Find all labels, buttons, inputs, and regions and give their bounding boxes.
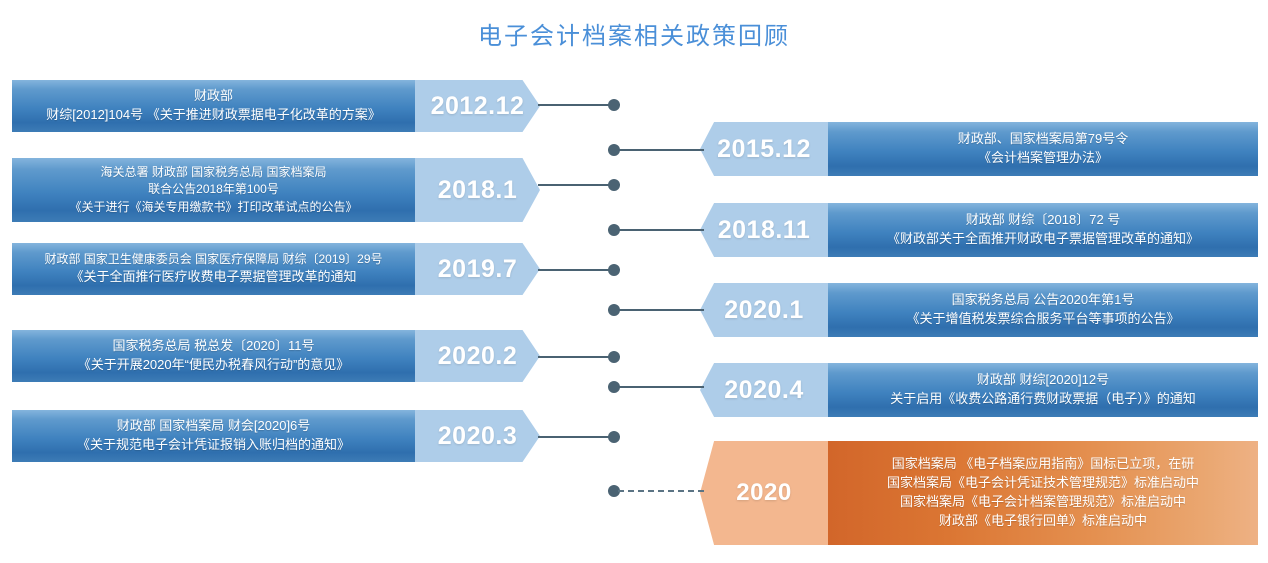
- date-badge-right-3[interactable]: 2020.1: [700, 283, 828, 337]
- policy-line: 海关总署 财政部 国家税务总局 国家档案局: [100, 164, 326, 181]
- timeline-item-right-5[interactable]: 2020 国家档案局 《电子档案应用指南》国标已立项，在研 国家档案局《电子会计…: [700, 441, 1258, 545]
- connector-line-right-5-dashed: [618, 490, 704, 492]
- policy-line: 财政部、国家档案局第79号令: [958, 130, 1128, 149]
- timeline-item-right-3[interactable]: 2020.1 国家税务总局 公告2020年第1号 《关于增值税发票综合服务平台等…: [700, 283, 1258, 337]
- connector-dot-left-3: [608, 264, 620, 276]
- policy-line: 关于启用《收费公路通行费财政票据（电子）》的通知: [890, 390, 1196, 409]
- policy-text-left-3: 财政部 国家卫生健康委员会 国家医疗保障局 财综〔2019〕29号 《关于全面推…: [12, 243, 415, 295]
- policy-text-right-1: 财政部、国家档案局第79号令 《会计档案管理办法》: [828, 122, 1258, 176]
- policy-line: 财政部: [194, 87, 233, 106]
- page-title: 电子会计档案相关政策回顾: [0, 16, 1268, 51]
- policy-line: 国家档案局《电子会计档案管理规范》标准启动中: [900, 493, 1186, 512]
- policy-line: 《关于开展2020年“便民办税春风行动”的意见》: [78, 356, 350, 375]
- date-badge-right-2[interactable]: 2018.11: [700, 203, 828, 257]
- timeline-item-left-5[interactable]: 财政部 国家档案局 财会[2020]6号 《关于规范电子会计凭证报销入账归档的通…: [12, 410, 540, 462]
- policy-line: 国家档案局 《电子档案应用指南》国标已立项，在研: [892, 455, 1195, 474]
- policy-line: 财综[2012]104号 《关于推进财政票据电子化改革的方案》: [46, 106, 380, 125]
- connector-line-left-5: [538, 436, 616, 438]
- policy-text-right-5: 国家档案局 《电子档案应用指南》国标已立项，在研 国家档案局《电子会计凭证技术管…: [828, 441, 1258, 545]
- connector-line-left-3: [538, 269, 616, 271]
- policy-line: 财政部《电子银行回单》标准启动中: [939, 512, 1147, 531]
- policy-line: 财政部 国家档案局 财会[2020]6号: [117, 417, 311, 436]
- policy-line: 《会计档案管理办法》: [978, 149, 1108, 168]
- policy-line: 财政部 财综[2020]12号: [977, 371, 1109, 390]
- date-badge-right-1[interactable]: 2015.12: [700, 122, 828, 176]
- connector-line-left-1: [538, 104, 616, 106]
- policy-text-left-5: 财政部 国家档案局 财会[2020]6号 《关于规范电子会计凭证报销入账归档的通…: [12, 410, 415, 462]
- policy-text-right-4: 财政部 财综[2020]12号 关于启用《收费公路通行费财政票据（电子）》的通知: [828, 363, 1258, 417]
- timeline-item-right-1[interactable]: 2015.12 财政部、国家档案局第79号令 《会计档案管理办法》: [700, 122, 1258, 176]
- timeline-item-left-4[interactable]: 国家税务总局 税总发〔2020〕11号 《关于开展2020年“便民办税春风行动”…: [12, 330, 540, 382]
- connector-dot-left-5: [608, 431, 620, 443]
- timeline-item-left-2[interactable]: 海关总署 财政部 国家税务总局 国家档案局 联合公告2018年第100号 《关于…: [12, 158, 540, 222]
- date-badge-left-4[interactable]: 2020.2: [415, 330, 540, 382]
- timeline-item-right-2[interactable]: 2018.11 财政部 财综〔2018〕72 号 《财政部关于全面推开财政电子票…: [700, 203, 1258, 257]
- policy-text-right-2: 财政部 财综〔2018〕72 号 《财政部关于全面推开财政电子票据管理改革的通知…: [828, 203, 1258, 257]
- connector-dot-left-2: [608, 179, 620, 191]
- connector-line-left-4: [538, 356, 616, 358]
- date-badge-left-5[interactable]: 2020.3: [415, 410, 540, 462]
- policy-text-left-1: 财政部 财综[2012]104号 《关于推进财政票据电子化改革的方案》: [12, 80, 415, 132]
- policy-line: 国家税务总局 公告2020年第1号: [952, 291, 1135, 310]
- connector-line-right-1: [618, 149, 704, 151]
- infographic-canvas: 电子会计档案相关政策回顾 财政部 财综[2012]104号 《关于推进财政票据电…: [0, 0, 1268, 563]
- connector-line-right-3: [618, 309, 704, 311]
- date-badge-left-1[interactable]: 2012.12: [415, 80, 540, 132]
- policy-line: 国家税务总局 税总发〔2020〕11号: [112, 337, 314, 356]
- connector-line-left-2: [538, 184, 616, 186]
- policy-line: 《关于增值税发票综合服务平台等事项的公告》: [906, 310, 1179, 329]
- timeline-item-right-4[interactable]: 2020.4 财政部 财综[2020]12号 关于启用《收费公路通行费财政票据（…: [700, 363, 1258, 417]
- timeline-item-left-3[interactable]: 财政部 国家卫生健康委员会 国家医疗保障局 财综〔2019〕29号 《关于全面推…: [12, 243, 540, 295]
- policy-line: 财政部 财综〔2018〕72 号: [966, 211, 1121, 230]
- connector-dot-left-1: [608, 99, 620, 111]
- policy-text-right-3: 国家税务总局 公告2020年第1号 《关于增值税发票综合服务平台等事项的公告》: [828, 283, 1258, 337]
- policy-line: 联合公告2018年第100号: [148, 181, 279, 198]
- policy-line: 《关于规范电子会计凭证报销入账归档的通知》: [77, 436, 350, 455]
- date-badge-right-4[interactable]: 2020.4: [700, 363, 828, 417]
- date-badge-left-3[interactable]: 2019.7: [415, 243, 540, 295]
- policy-text-left-2: 海关总署 财政部 国家税务总局 国家档案局 联合公告2018年第100号 《关于…: [12, 158, 415, 222]
- date-badge-right-5[interactable]: 2020: [700, 441, 828, 545]
- policy-line: 《关于全面推行医疗收费电子票据管理改革的通知: [70, 268, 356, 287]
- policy-line: 《关于进行《海关专用缴款书》打印改革试点的公告》: [69, 199, 357, 216]
- policy-line: 国家档案局《电子会计凭证技术管理规范》标准启动中: [887, 474, 1199, 493]
- connector-dot-left-4: [608, 351, 620, 363]
- policy-text-left-4: 国家税务总局 税总发〔2020〕11号 《关于开展2020年“便民办税春风行动”…: [12, 330, 415, 382]
- policy-line: 财政部 国家卫生健康委员会 国家医疗保障局 财综〔2019〕29号: [44, 251, 382, 268]
- timeline-item-left-1[interactable]: 财政部 财综[2012]104号 《关于推进财政票据电子化改革的方案》 2012…: [12, 80, 540, 132]
- connector-line-right-2: [618, 229, 704, 231]
- date-badge-left-2[interactable]: 2018.1: [415, 158, 540, 222]
- policy-line: 《财政部关于全面推开财政电子票据管理改革的通知》: [887, 230, 1199, 249]
- connector-line-right-4: [618, 386, 704, 388]
